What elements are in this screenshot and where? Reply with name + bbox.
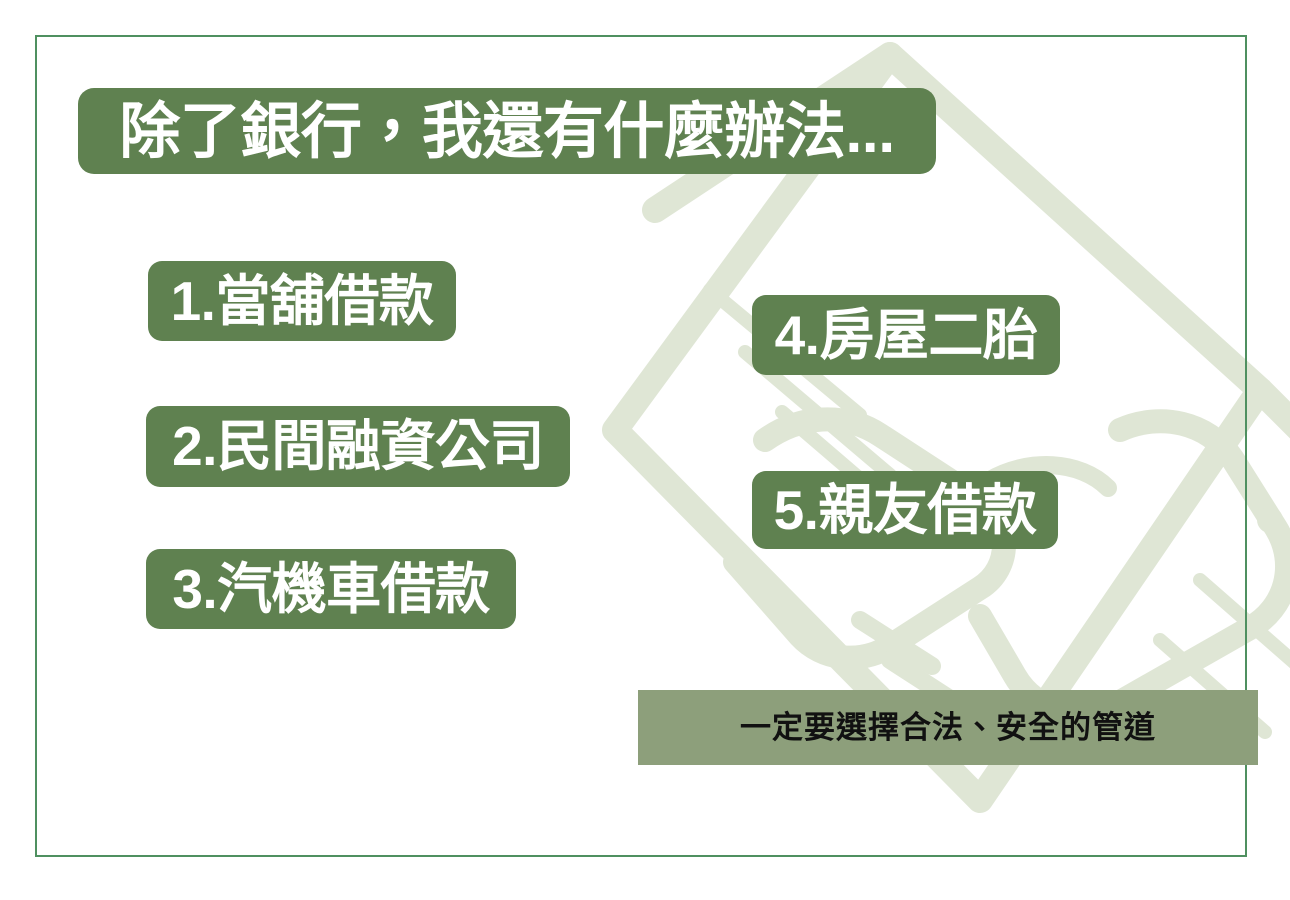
page-title: 除了銀行，我還有什麼辦法... xyxy=(78,88,936,174)
footer-note-text: 一定要選擇合法、安全的管道 xyxy=(740,712,1156,743)
option-badge-3: 3.汽機車借款 xyxy=(146,549,516,629)
option-badge-5: 5.親友借款 xyxy=(752,471,1058,549)
option-badge-2: 2.民間融資公司 xyxy=(146,406,570,487)
footer-note-bar: 一定要選擇合法、安全的管道 xyxy=(638,690,1258,765)
option-badge-1: 1.當舖借款 xyxy=(148,261,456,341)
option-badge-4: 4.房屋二胎 xyxy=(752,295,1060,375)
poster-canvas: 除了銀行，我還有什麼辦法... 1.當舖借款 2.民間融資公司 3.汽機車借款 … xyxy=(0,0,1290,900)
